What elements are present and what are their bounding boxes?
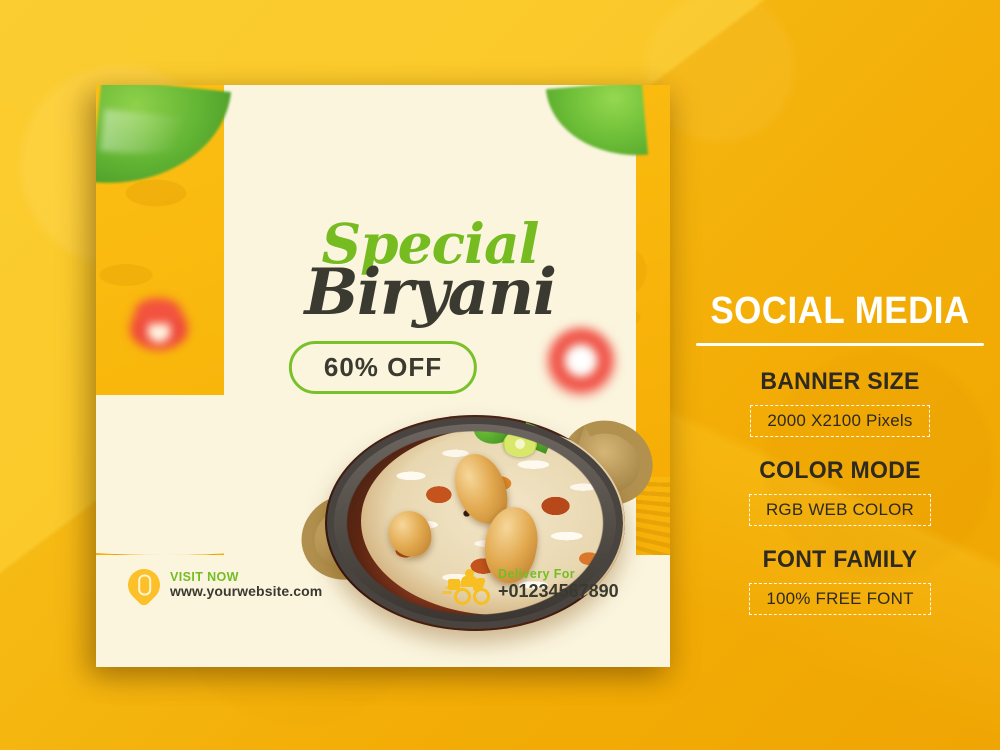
delivery-text: Delivery For +01234567890: [498, 567, 619, 601]
delivery-phone[interactable]: +01234567890: [498, 581, 619, 601]
spec-heading: BANNER SIZE: [696, 368, 984, 396]
social-media-banner-card: Special Biryani 60% OFF: [96, 85, 670, 667]
discount-badge-label: 60% OFF: [324, 352, 442, 382]
spec-heading: FONT FAMILY: [696, 546, 984, 574]
spec-value: 100% FREE FONT: [749, 583, 930, 615]
spec-font-family: FONT FAMILY 100% FREE FONT: [690, 546, 990, 615]
spec-color-mode: COLOR MODE RGB WEB COLOR: [690, 457, 990, 526]
banner-main-title: Biryani: [224, 255, 636, 330]
delivery-scooter-icon: [448, 569, 488, 599]
discount-badge[interactable]: 60% OFF: [289, 341, 477, 394]
spec-banner-size: BANNER SIZE 2000 X2100 Pixels: [690, 368, 990, 437]
delivery-label: Delivery For: [498, 567, 619, 581]
scooter-wheel-front: [473, 588, 490, 605]
panel-title: SOCIAL MEDIA: [702, 292, 978, 330]
spec-value: RGB WEB COLOR: [749, 494, 931, 526]
scooter-wheel-rear: [454, 588, 471, 605]
spec-heading: COLOR MODE: [696, 457, 984, 485]
paperclip-glyph: [138, 575, 151, 596]
location-pin-paperclip-icon: [121, 562, 166, 607]
visit-now-label: VISIT NOW: [170, 570, 322, 584]
spec-value: 2000 X2100 Pixels: [750, 405, 929, 437]
delivery-group[interactable]: Delivery For +01234567890: [448, 567, 619, 601]
visit-now-group[interactable]: VISIT NOW www.yourwebsite.com: [128, 569, 322, 601]
spec-panel: SOCIAL MEDIA BANNER SIZE 2000 X2100 Pixe…: [690, 292, 990, 635]
screenshot-canvas: Special Biryani 60% OFF: [0, 0, 1000, 750]
blurred-garnish-right: [544, 325, 618, 399]
panel-divider: [696, 343, 984, 346]
visit-now-text: VISIT NOW www.yourwebsite.com: [170, 570, 322, 600]
banner-footer: VISIT NOW www.yourwebsite.com Delivery F…: [96, 555, 670, 667]
scooter-motion-line: [445, 586, 452, 589]
blurred-garnish-left: [128, 300, 190, 350]
website-url[interactable]: www.yourwebsite.com: [170, 584, 322, 600]
scooter-motion-line: [442, 591, 452, 594]
